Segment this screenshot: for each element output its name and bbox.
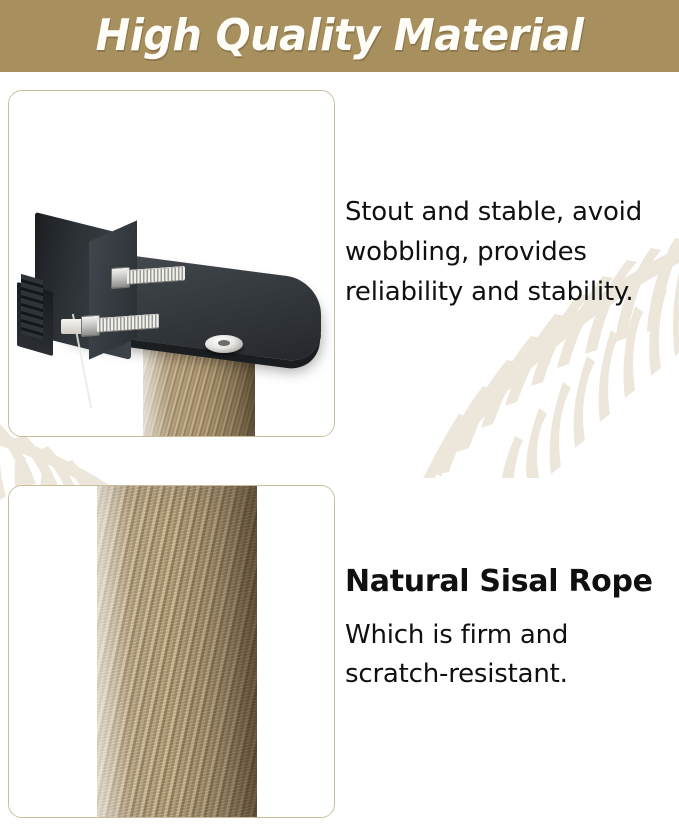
feature-panel-stout-and-stable <box>8 90 335 437</box>
bolt-spacer <box>61 319 83 334</box>
feature-body-line: Which is firm and <box>345 616 675 655</box>
feature-panel-natural-sisal-rope <box>8 485 335 818</box>
sisal-rope-column <box>97 485 257 818</box>
feature-text-stout-and-stable: Stout and stable, avoid wobbling, provid… <box>345 192 675 312</box>
feature-body-line: wobbling, provides <box>345 232 675 272</box>
header-banner: High Quality Material <box>0 0 679 72</box>
page-title: High Quality Material <box>96 14 584 58</box>
bracket-mount-photo <box>9 91 334 436</box>
feature-body-line: scratch-resistant. <box>345 655 675 694</box>
feature-heading: Natural Sisal Rope <box>345 562 675 602</box>
bracket-back-wall-face <box>89 220 137 359</box>
bracket-teeth <box>21 274 43 340</box>
feature-body-line: reliability and stability. <box>345 272 675 312</box>
feature-text-natural-sisal-rope: Natural Sisal Rope Which is firm and scr… <box>345 562 675 694</box>
sisal-rope-photo <box>9 486 334 817</box>
feature-body-line: Stout and stable, avoid <box>345 192 675 232</box>
screw-washer-icon <box>205 335 243 353</box>
